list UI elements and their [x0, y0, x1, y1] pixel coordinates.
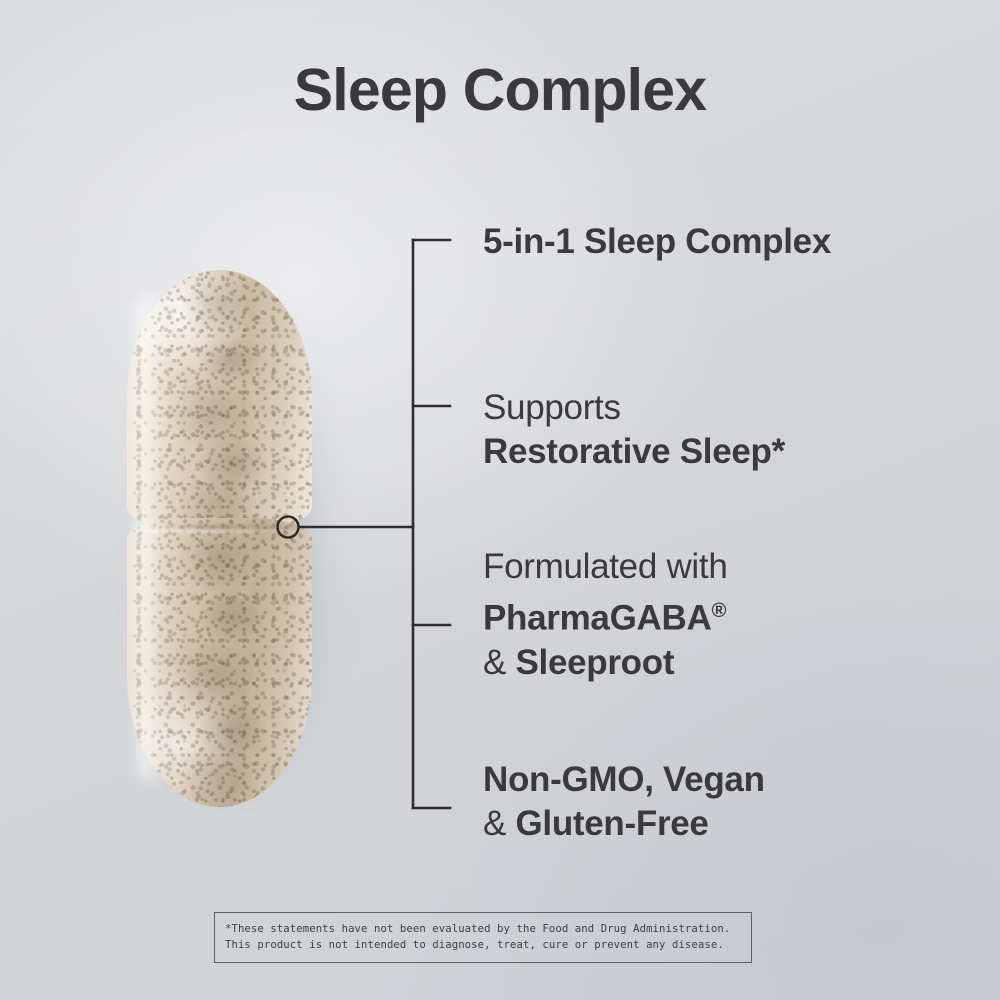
callout-ampersand: & — [483, 643, 515, 682]
callout-pharmagaba-sleeproot: Formulated with PharmaGABA® & Sleeproot — [483, 545, 727, 685]
capsule-image — [127, 270, 312, 807]
disclaimer-line-1: *These statements have not been evaluate… — [225, 921, 741, 937]
product-infographic: Sleep Complex — [0, 0, 1000, 1000]
callout-line: & Sleeproot — [483, 641, 727, 685]
fda-disclaimer-box: *These statements have not been evaluate… — [214, 912, 752, 963]
callout-line: Non-GMO, Vegan — [483, 758, 765, 802]
callout-claim: Gluten-Free — [515, 804, 708, 843]
callout-brand-name: PharmaGABA — [483, 599, 711, 638]
callout-five-in-one: 5-in-1 Sleep Complex — [483, 220, 831, 264]
disclaimer-line-2: This product is not intended to diagnose… — [225, 937, 741, 953]
capsule-body — [127, 518, 312, 807]
callout-line: & Gluten-Free — [483, 802, 765, 846]
callout-line: PharmaGABA® — [483, 589, 727, 641]
capsule-powder-core-top — [168, 270, 275, 532]
callout-ingredient-name: Sleeproot — [515, 643, 674, 682]
callout-line: Formulated with — [483, 545, 727, 589]
callout-restorative-sleep: Supports Restorative Sleep* — [483, 386, 785, 474]
callout-line: Restorative Sleep* — [483, 430, 785, 474]
page-title: Sleep Complex — [0, 56, 1000, 124]
callout-line: 5-in-1 Sleep Complex — [483, 220, 831, 264]
callout-non-gmo-vegan-gluten-free: Non-GMO, Vegan & Gluten-Free — [483, 758, 765, 846]
registered-trademark-icon: ® — [711, 600, 726, 622]
callout-line: Supports — [483, 386, 785, 430]
callout-ampersand: & — [483, 804, 515, 843]
capsule-cap — [127, 270, 312, 532]
capsule-powder-core-body — [168, 518, 275, 807]
